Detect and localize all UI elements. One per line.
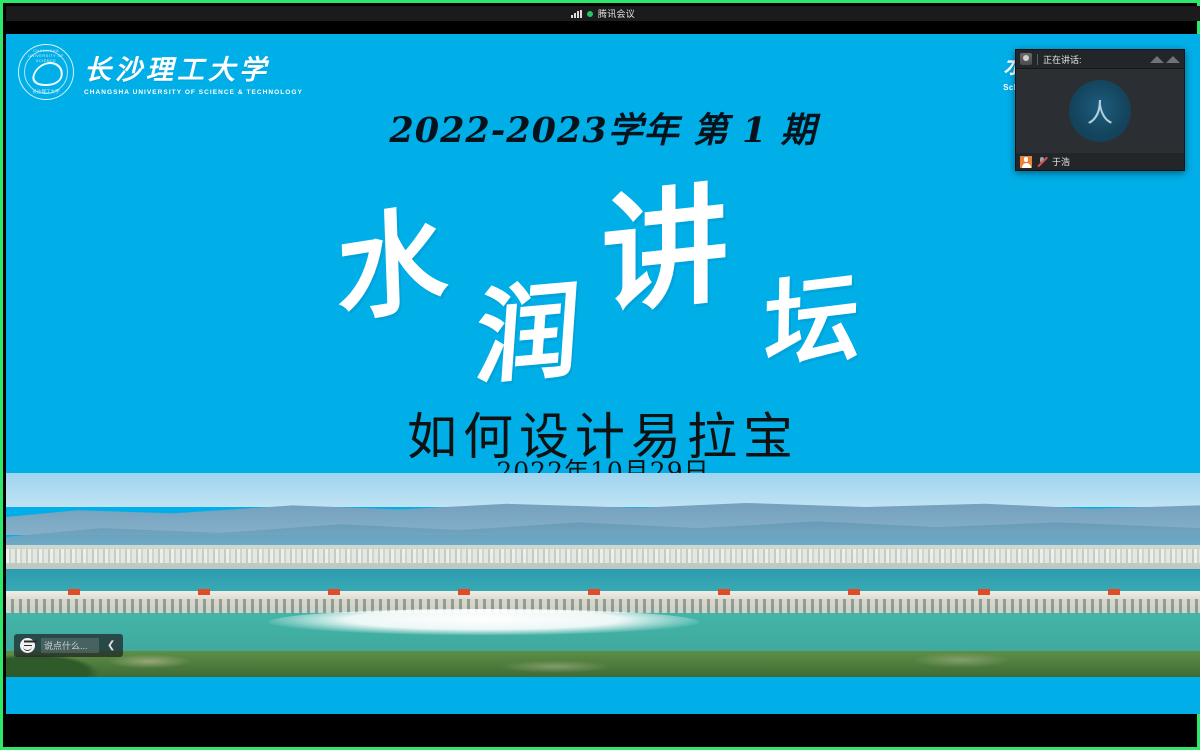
photo-foreground-land [6,651,1200,677]
chevron-left-icon[interactable]: ❮ [105,641,117,651]
brand-char-4: 坛 [764,268,861,377]
meeting-status-strip: 腾讯会议 [6,6,1200,21]
mic-muted-icon[interactable] [1036,156,1048,168]
chat-composer[interactable]: ❮ [14,634,123,657]
photo-sky [6,473,1200,507]
green-dot-icon [587,11,593,17]
emoji-smiley-icon[interactable] [20,638,35,653]
speaking-label: 正在讲话: [1043,53,1082,66]
speaker-thumbnail-icon [1020,53,1032,65]
speaker-video-tile[interactable]: 正在讲话: 人 于浩 [1015,49,1185,171]
chat-input[interactable] [41,638,99,653]
photo-dam-gantry-cranes [6,589,1200,595]
photo-town-band [6,545,1200,571]
university-logo: CHANGSHA UNIVERSITY OF SCIENCE 长沙理工大学 长沙… [18,44,303,100]
brand-char-3: 讲 [601,180,728,322]
university-name-cn: 长沙理工大学 [84,48,303,87]
three-gorges-dam-photo [6,473,1200,677]
divider [1037,54,1038,65]
participant-name: 于浩 [1052,155,1070,168]
video-tile-controls[interactable] [1150,56,1180,63]
brand-char-1: 水 [335,201,450,331]
person-avatar-icon [1020,156,1032,168]
signal-bars-icon [571,10,582,18]
brand-calligraphy: 水 润 讲 坛 [6,182,1200,372]
avatar: 人 [1069,80,1131,142]
video-tile-body[interactable]: 人 [1016,69,1184,153]
university-name-block: 长沙理工大学 CHANGSHA UNIVERSITY OF SCIENCE & … [84,48,303,96]
video-tile-footer: 于浩 [1016,153,1184,170]
screen-share-frame: 腾讯会议 CHANGSHA UNIVERSITY OF SCIENCE 长沙理工… [0,0,1200,750]
university-name-en: CHANGSHA UNIVERSITY OF SCIENCE & TECHNOL… [84,89,303,96]
avatar-glyph: 人 [1069,80,1131,142]
chevron-up-icon[interactable] [1166,56,1180,63]
chevron-up-icon[interactable] [1150,56,1164,63]
seal-bottom-text: 长沙理工大学 [19,89,73,95]
university-seal-icon: CHANGSHA UNIVERSITY OF SCIENCE 长沙理工大学 [18,44,74,100]
video-tile-header[interactable]: 正在讲话: [1016,50,1184,69]
meeting-app-name: 腾讯会议 [598,7,635,20]
brand-char-2: 润 [473,277,584,391]
seal-ring-text: CHANGSHA UNIVERSITY OF SCIENCE [19,48,73,63]
photo-spillway-discharge [269,609,699,635]
